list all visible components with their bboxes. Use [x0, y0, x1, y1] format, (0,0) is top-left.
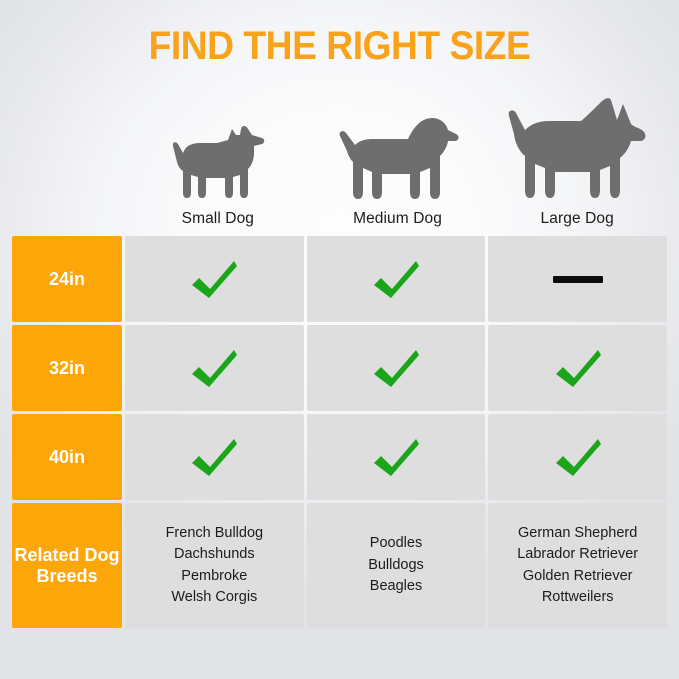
row-label-32in: 32in [12, 325, 122, 411]
check-icon [372, 437, 420, 477]
infographic-page: FIND THE RIGHT SIZE Small Dog Medium Dog [0, 0, 679, 679]
row-label-24in: 24in [12, 236, 122, 322]
check-icon [372, 348, 420, 388]
check-icon [190, 437, 238, 477]
cell-40in-large [488, 414, 667, 500]
cell-32in-large [488, 325, 667, 411]
page-title: FIND THE RIGHT SIZE [24, 24, 655, 68]
dog-size-header: Small Dog Medium Dog Large Dog [128, 96, 667, 228]
table-row: 40in [12, 414, 667, 500]
cell-breeds-small: French Bulldog Dachshunds Pembroke Welsh… [125, 503, 304, 628]
check-icon [190, 348, 238, 388]
check-icon [554, 348, 602, 388]
check-icon [190, 259, 238, 299]
dog-column-medium: Medium Dog [308, 96, 488, 228]
cell-24in-large [488, 236, 667, 322]
cell-breeds-large: German Shepherd Labrador Retriever Golde… [488, 503, 667, 628]
dog-label-medium: Medium Dog [353, 210, 442, 228]
breed-list-small: French Bulldog Dachshunds Pembroke Welsh… [166, 523, 264, 609]
dog-column-large: Large Dog [487, 96, 667, 228]
cell-32in-small [125, 325, 304, 411]
breed-list-large: German Shepherd Labrador Retriever Golde… [517, 523, 638, 609]
check-icon [372, 259, 420, 299]
dog-column-small: Small Dog [128, 96, 308, 228]
cell-40in-small [125, 414, 304, 500]
table-row: 24in [12, 236, 667, 322]
cell-breeds-medium: Poodles Bulldogs Beagles [307, 503, 486, 628]
small-dog-silhouette-icon [170, 104, 266, 202]
size-comparison-table: 24in 32in [12, 236, 667, 628]
medium-dog-silhouette-icon [336, 104, 460, 202]
breed-list-medium: Poodles Bulldogs Beagles [368, 533, 424, 598]
row-label-40in: 40in [12, 414, 122, 500]
check-icon [554, 437, 602, 477]
row-label-related-breeds: Related Dog Breeds [12, 503, 122, 628]
table-row: 32in [12, 325, 667, 411]
cell-24in-small [125, 236, 304, 322]
cell-24in-medium [307, 236, 486, 322]
cell-40in-medium [307, 414, 486, 500]
large-dog-silhouette-icon [505, 104, 649, 202]
dog-label-small: Small Dog [182, 210, 254, 228]
table-row: Related Dog Breeds French Bulldog Dachsh… [12, 503, 667, 628]
cell-32in-medium [307, 325, 486, 411]
dog-label-large: Large Dog [541, 210, 614, 228]
dash-icon [553, 276, 603, 283]
